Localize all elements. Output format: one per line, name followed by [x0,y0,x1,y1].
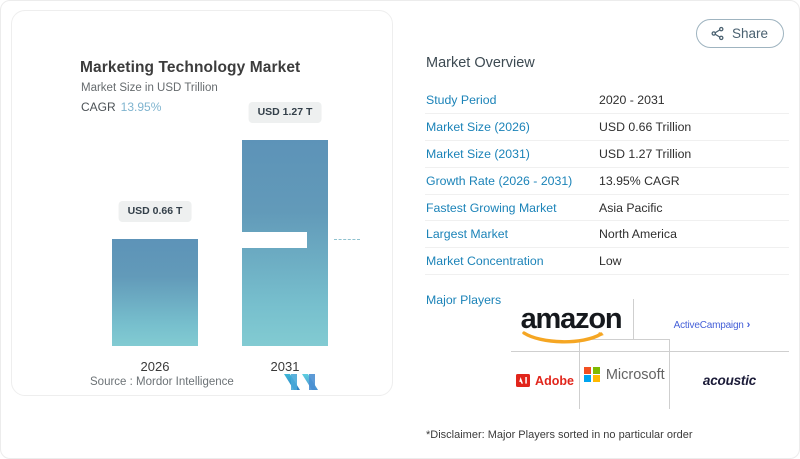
row-value: USD 0.66 Trillion [598,114,789,141]
chart-source: Source : Mordor Intelligence [90,376,234,388]
x-axis-label-2031: 2031 [271,359,300,374]
amazon-logo: amazon [521,305,622,344]
row-value: Low [598,248,789,275]
player-cell-adobe: Adobe [511,352,579,409]
row-key: Market Concentration [425,248,598,275]
x-axis-label-2026: 2026 [141,359,170,374]
row-key: Largest Market [425,221,598,248]
activecampaign-logo-text: ActiveCampaign [674,320,744,331]
adobe-mark-icon [516,374,530,387]
chart-card: Marketing Technology Market Market Size … [11,10,393,396]
table-row: Market Size (2031) USD 1.27 Trillion [425,141,789,168]
player-cell-acoustic: acoustic [670,352,789,409]
table-row: Growth Rate (2026 - 2031) 13.95% CAGR [425,167,789,194]
row-key: Market Size (2031) [425,141,598,168]
cagr-label: CAGR [81,100,116,114]
table-row: Fastest Growing Market Asia Pacific [425,194,789,221]
row-value: Asia Pacific [598,194,789,221]
table-row: Study Period 2020 - 2031 [425,87,789,114]
mordor-intelligence-logo [284,373,318,391]
adobe-logo: Adobe [516,374,574,388]
screenshot-root: Share Marketing Technology Market Market… [0,0,800,459]
activecampaign-logo: ActiveCampaign › [674,319,751,331]
microsoft-squares-icon [584,367,600,383]
bar-notch-2031 [242,232,307,248]
divider-vertical-top [633,299,634,339]
major-players-grid: amazon ActiveCampaign › [511,299,789,409]
table-row: Market Concentration Low [425,248,789,275]
bar-2026[interactable] [112,239,198,346]
chevron-right-icon: › [747,319,751,331]
bar-2031[interactable] [242,140,328,346]
microsoft-logo: Microsoft [584,367,664,383]
major-players-disclaimer: *Disclaimer: Major Players sorted in no … [426,429,693,441]
market-overview-panel: Market Overview Study Period 2020 - 2031… [425,11,789,451]
cagr-value: 13.95% [121,100,162,114]
row-value: 13.95% CAGR [598,167,789,194]
chart-subtitle: Market Size in USD Trillion [81,82,218,94]
table-row: Market Size (2026) USD 0.66 Trillion [425,114,789,141]
adobe-logo-text: Adobe [535,374,574,388]
amazon-logo-text: amazon [521,305,622,334]
microsoft-logo-text: Microsoft [606,367,665,383]
chart-title: Marketing Technology Market [80,59,300,77]
bar-value-label-2031: USD 1.27 T [249,102,322,123]
bar-group-2031: USD 1.27 T 2031 [242,116,328,346]
row-key: Fastest Growing Market [425,194,598,221]
row-value: USD 1.27 Trillion [598,141,789,168]
acoustic-logo: acoustic [703,373,756,388]
row-key: Market Size (2026) [425,114,598,141]
bar-value-label-2026: USD 0.66 T [119,201,192,222]
row-key: Study Period [425,87,598,114]
row-value: 2020 - 2031 [598,87,789,114]
row-value: North America [598,221,789,248]
player-cell-microsoft: Microsoft [580,340,669,409]
row-key: Growth Rate (2026 - 2031) [425,167,598,194]
table-row: Largest Market North America [425,221,789,248]
reference-dashed-line [334,239,360,240]
chart-plot-area: USD 0.66 T 2026 USD 1.27 T 2031 [72,116,372,346]
bar-group-2026: USD 0.66 T 2026 [112,116,198,346]
major-players-title: Major Players [426,293,501,307]
market-overview-table: Study Period 2020 - 2031 Market Size (20… [425,87,789,275]
market-overview-title: Market Overview [426,55,535,71]
chart-cagr: CAGR13.95% [81,100,161,114]
